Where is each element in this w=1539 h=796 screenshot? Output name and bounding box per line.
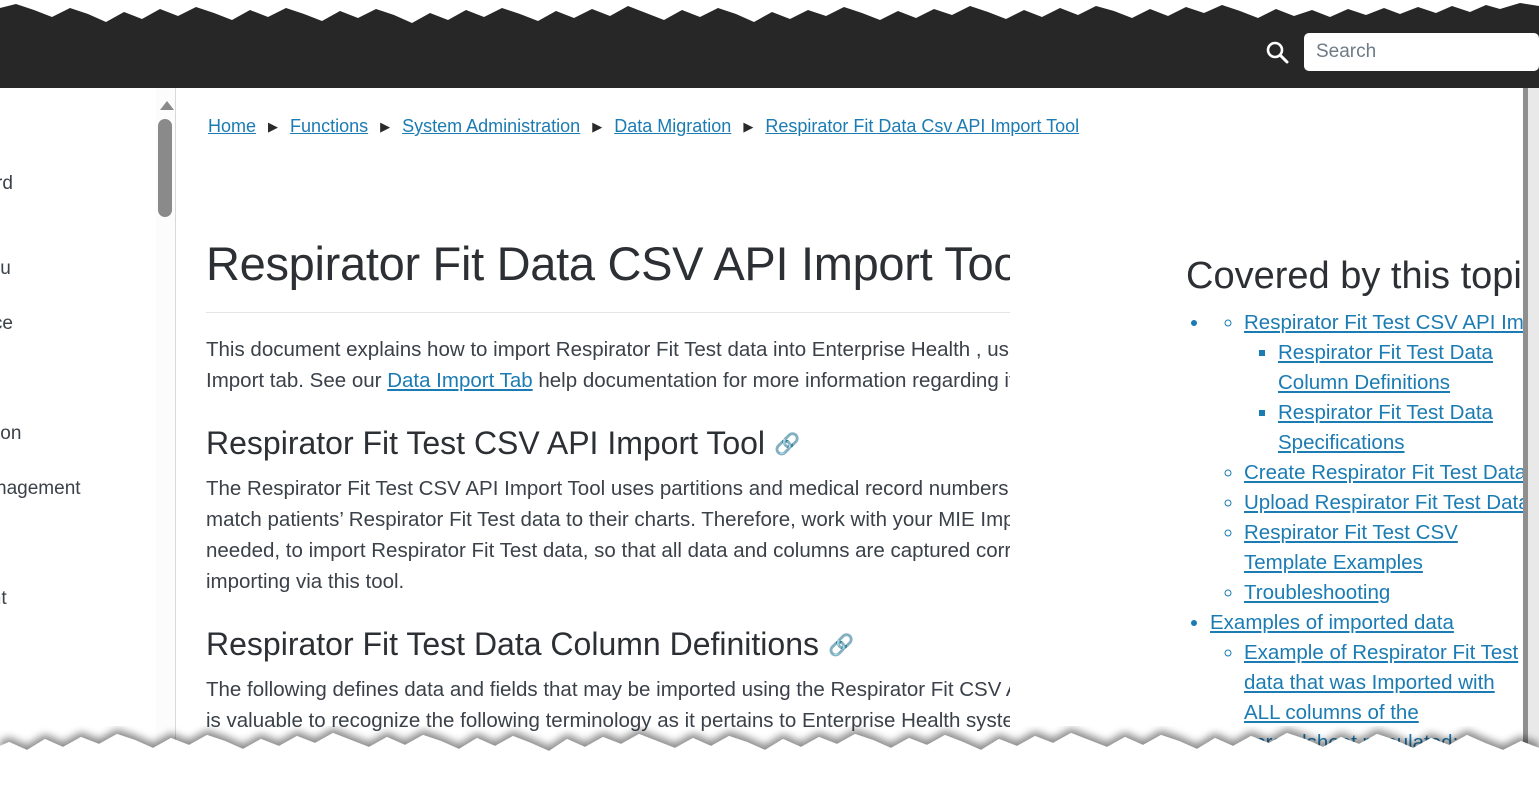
breadcrumb-item-system-administration[interactable]: System Administration: [402, 116, 580, 136]
breadcrumb-item-data-migration[interactable]: Data Migration: [614, 116, 731, 136]
sidebar-item-system[interactable]: System: [0, 88, 170, 110]
breadcrumb-separator-icon: ▶: [268, 119, 278, 135]
toc-sublist: Respirator Fit Test Data Column Definiti…: [1244, 338, 1523, 458]
list-item: Respirator Fit Test CSV Template Example…: [1244, 518, 1523, 578]
toc-sublist: Respirator Fit Test CSV API Import Tool …: [1210, 308, 1523, 608]
breadcrumb-item-current[interactable]: Respirator Fit Data Csv API Import Tool: [765, 116, 1079, 136]
search-input[interactable]: [1304, 33, 1539, 71]
toc-sublist: Example of Respirator Fit Test data that…: [1210, 638, 1523, 788]
breadcrumb-item-functions[interactable]: Functions: [290, 116, 368, 136]
list-item: Respirator Fit Test Data Column Definiti…: [1278, 338, 1523, 398]
search-icon[interactable]: [1260, 35, 1294, 69]
link-icon[interactable]: 🔗: [774, 425, 800, 465]
screenshot-root: System Dashboard Side menu Preference Re…: [0, 0, 1539, 796]
list-item: Upload Respirator Fit Test Data CSV: [1244, 488, 1523, 518]
breadcrumb-separator-icon: ▶: [592, 119, 602, 135]
toc-link-troubleshooting[interactable]: Troubleshooting: [1244, 581, 1390, 604]
breadcrumb-item-home[interactable]: Home: [208, 116, 256, 136]
toc-link-column-definitions[interactable]: Respirator Fit Test Data Column Definiti…: [1278, 341, 1493, 394]
search-area: [1260, 30, 1539, 74]
section-heading-text: Respirator Fit Test Data Column Definiti…: [206, 626, 819, 662]
breadcrumb: Home ▶ Functions ▶ System Administration…: [208, 116, 1079, 137]
left-sidebar[interactable]: System Dashboard Side menu Preference Re…: [0, 88, 176, 796]
toc-link-create-csv[interactable]: Create Respirator Fit Test Data CSV: [1244, 461, 1523, 484]
toc-group-2: Examples of imported data Example of Res…: [1210, 608, 1523, 788]
toc-link-data-specifications[interactable]: Respirator Fit Test Data Specifications: [1278, 401, 1493, 454]
sidebar-item-dashboard[interactable]: Dashboard: [0, 173, 170, 195]
definition-term: Partition: [246, 750, 329, 773]
table-of-contents-panel: Covered by this topic Respirator Fit Tes…: [1010, 230, 1523, 796]
toc-link-import-tool[interactable]: Respirator Fit Test CSV API Import Tool: [1244, 311, 1523, 334]
list-item: Respirator Fit Test Data Specifications: [1278, 398, 1523, 458]
toc-link-upload-csv[interactable]: Upload Respirator Fit Test Data CSV: [1244, 491, 1523, 514]
toc-group-1: Respirator Fit Test CSV API Import Tool …: [1210, 308, 1523, 608]
list-item: Respirator Fit Test CSV API Import Tool …: [1244, 308, 1523, 458]
toc-heading: Covered by this topic: [1010, 230, 1523, 300]
list-item: Example of Respirator Fit Test data that…: [1244, 638, 1523, 758]
breadcrumb-separator-icon: ▶: [743, 119, 753, 135]
sidebar-item-side-menu[interactable]: Side menu: [0, 258, 170, 280]
list-item: Create Respirator Fit Test Data CSV: [1244, 458, 1523, 488]
toc-link-template-examples[interactable]: Respirator Fit Test CSV Template Example…: [1244, 521, 1458, 574]
page-title: Respirator Fit Data CSV API Import Tool: [206, 236, 1029, 291]
toc-link-example-all-columns[interactable]: Example of Respirator Fit Test data that…: [1244, 641, 1518, 754]
link-icon[interactable]: 🔗: [828, 626, 854, 666]
section-heading-text: Respirator Fit Test CSV API Import Tool: [206, 425, 765, 461]
toc-list: Respirator Fit Test CSV API Import Tool …: [1010, 308, 1523, 788]
toc-link-examples-of-imported-data[interactable]: Examples of imported data: [1210, 611, 1454, 634]
sidebar-item-case-management[interactable]: Case Management: [0, 478, 170, 500]
chevron-up-icon[interactable]: [160, 101, 174, 110]
sidebar-scrollbar-thumb[interactable]: [158, 119, 172, 217]
sidebar-item-document[interactable]: Document: [0, 588, 170, 610]
data-import-tab-link[interactable]: Data Import Tab: [387, 369, 532, 392]
page-scrollbar-thumb[interactable]: [1523, 88, 1528, 796]
sidebar-item-preference[interactable]: Preference: [0, 313, 170, 335]
sidebar-item-registration[interactable]: Registration: [0, 423, 170, 445]
toc-link-example-second[interactable]: Example of Respirator Fit Test data: [1244, 761, 1523, 784]
breadcrumb-separator-icon: ▶: [380, 119, 390, 135]
list-item: Troubleshooting: [1244, 578, 1523, 608]
list-item: Example of Respirator Fit Test data: [1244, 758, 1523, 788]
